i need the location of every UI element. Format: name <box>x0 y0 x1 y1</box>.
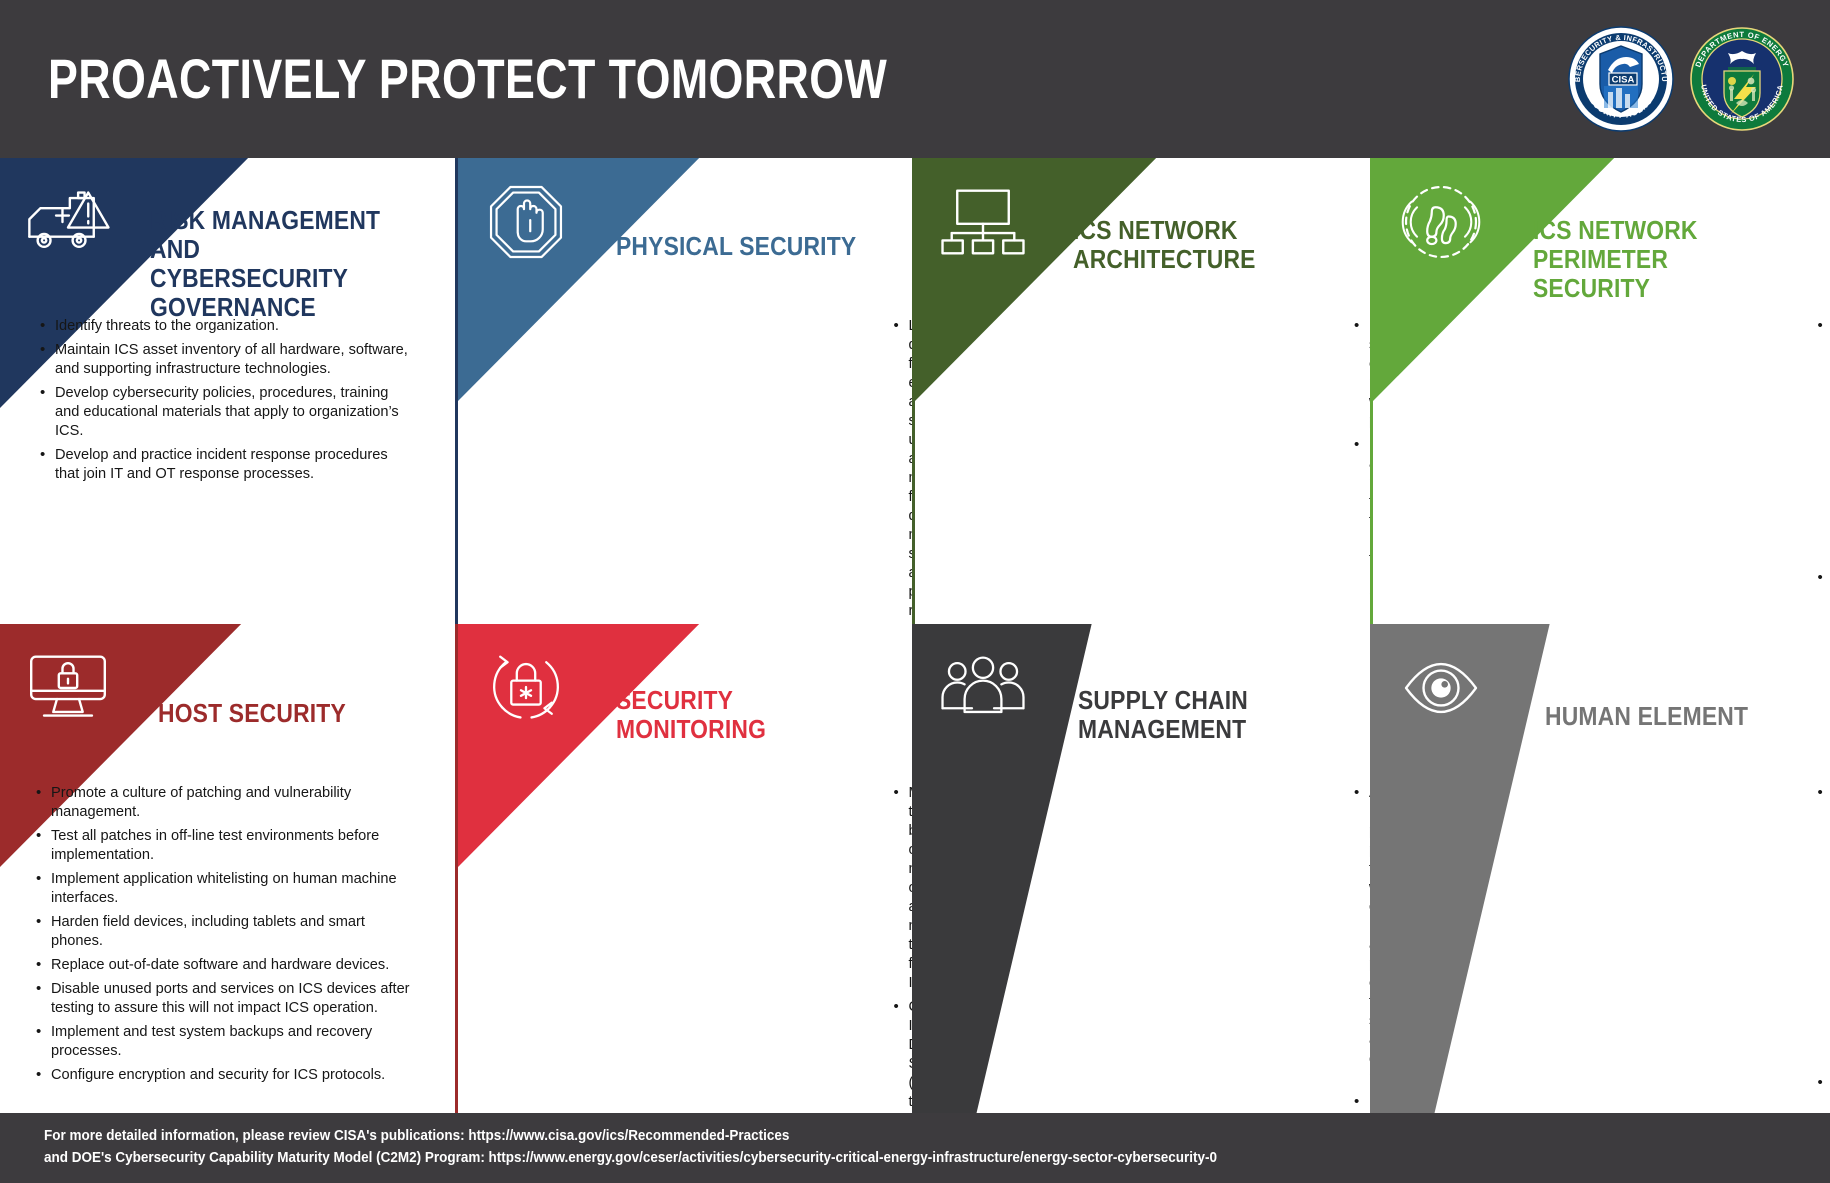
list-item: Identify threats to the organization. <box>38 317 415 336</box>
list-item: Utilize IP geo-blocking as appropriate. <box>1816 569 1830 624</box>
ambulance-warning-icon <box>22 176 114 268</box>
network-topology-icon <box>937 176 1029 268</box>
list-item: Configure encryption and security for IC… <box>34 1066 415 1085</box>
footer-line-doe: and DOE's Cybersecurity Capability Matur… <box>44 1147 1705 1169</box>
card-human-element: HUMAN ELEMENT Issue policies that outlin… <box>1373 624 1830 1113</box>
list-item: Issue procedures that state how personne… <box>1816 1074 1830 1113</box>
list-item: Implement a network topology for ICS tha… <box>1352 436 1369 624</box>
list-item: Replace out-of-date software and hardwar… <box>34 956 415 975</box>
card-host-security: HOST SECURITY Promote a culture of patch… <box>0 624 458 1113</box>
card-title: SUPPLY CHAIN MANAGEMENT <box>1078 686 1324 744</box>
list-item: Configure firewalls to control traffic b… <box>1816 317 1830 564</box>
monitor-lock-icon <box>22 642 114 734</box>
card-title: SECURITY MONITORING <box>616 686 862 744</box>
card-title: HOST SECURITY <box>158 699 404 728</box>
card-title: RISK MANAGEMENT AND CYBERSECURITY GOVERN… <box>150 206 396 322</box>
card-risk-management-and-cybersecurity-governance: RISK MANAGEMENT AND CYBERSECURITY GOVERN… <box>0 158 458 624</box>
card-title: HUMAN ELEMENT <box>1545 702 1791 731</box>
footprints-perimeter-icon <box>1395 176 1487 268</box>
list-item: Measure the baseline of normal operation… <box>892 784 909 993</box>
card-ics-network-architecture: ICS NETWORK ARCHITECTURE Utilize segment… <box>915 158 1373 624</box>
list-item: Lock down field electronics and set up a… <box>892 317 909 624</box>
card-title: ICS NETWORK PERIMETER SECURITY <box>1533 216 1779 303</box>
list-item: Issue policies that outline ICS security… <box>1816 784 1830 1069</box>
eye-icon <box>1395 642 1487 734</box>
list-item: Harden field devices, including tablets … <box>34 913 415 951</box>
list-item: Develop cybersecurity policies, procedur… <box>38 384 415 441</box>
list-item: Test all patches in off-line test enviro… <box>34 827 415 865</box>
list-item: Invest up front in secure ICS products, … <box>1352 1093 1369 1114</box>
list-item: Adjust ICS procurement process to weigh … <box>1352 784 1369 1088</box>
card-supply-chain-management: SUPPLY CHAIN MANAGEMENT Adjust ICS procu… <box>915 624 1373 1113</box>
list-item: Implement application whitelisting on hu… <box>34 870 415 908</box>
card-bullet-list: Promote a culture of patching and vulner… <box>34 784 415 1090</box>
card-title: PHYSICAL SECURITY <box>616 232 862 261</box>
agency-logos: CISA CYBERSECURITY & INFRASTRUCTURE SECU… <box>1568 26 1794 132</box>
cisa-seal: CISA CYBERSECURITY & INFRASTRUCTURE SECU… <box>1568 26 1674 132</box>
people-group-icon <box>937 642 1029 734</box>
list-item: Develop and practice incident response p… <box>38 446 415 484</box>
poster-footer: For more detailed information, please re… <box>0 1113 1830 1183</box>
list-item: Disable unused ports and services on ICS… <box>34 980 415 1018</box>
list-item: Configure Intrusion Detection Systems (I… <box>892 998 909 1113</box>
poster-header: PROACTIVELY PROTECT TOMORROW CISA <box>0 0 1830 158</box>
lock-refresh-cycle-icon <box>480 642 572 734</box>
card-title: ICS NETWORK ARCHITECTURE <box>1073 216 1319 274</box>
list-item: Utilize segmentation of networks where p… <box>1352 317 1369 431</box>
octagon-hand-stop-icon <box>480 176 572 268</box>
infographic-poster: PROACTIVELY PROTECT TOMORROW CISA <box>0 0 1830 1183</box>
card-bullet-list: Identify threats to the organization. Ma… <box>38 317 415 489</box>
card-ics-network-perimeter-security: ICS NETWORK PERIMETER SECURITY Configure… <box>1373 158 1830 624</box>
list-item: Maintain ICS asset inventory of all hard… <box>38 341 415 379</box>
list-item: Promote a culture of patching and vulner… <box>34 784 415 822</box>
page-title: PROACTIVELY PROTECT TOMORROW <box>48 51 887 107</box>
practice-card-grid: RISK MANAGEMENT AND CYBERSECURITY GOVERN… <box>0 158 1830 1113</box>
footer-line-cisa: For more detailed information, please re… <box>44 1125 1705 1147</box>
card-physical-security: PHYSICAL SECURITY Lock down field electr… <box>458 158 916 624</box>
card-security-monitoring: SECURITY MONITORING Measure the baseline… <box>458 624 916 1113</box>
svg-text:CISA: CISA <box>1612 74 1635 85</box>
doe-seal: DEPARTMENT OF ENERGY UNITED STATES OF AM… <box>1690 27 1794 131</box>
list-item: Implement and test system backups and re… <box>34 1023 415 1061</box>
